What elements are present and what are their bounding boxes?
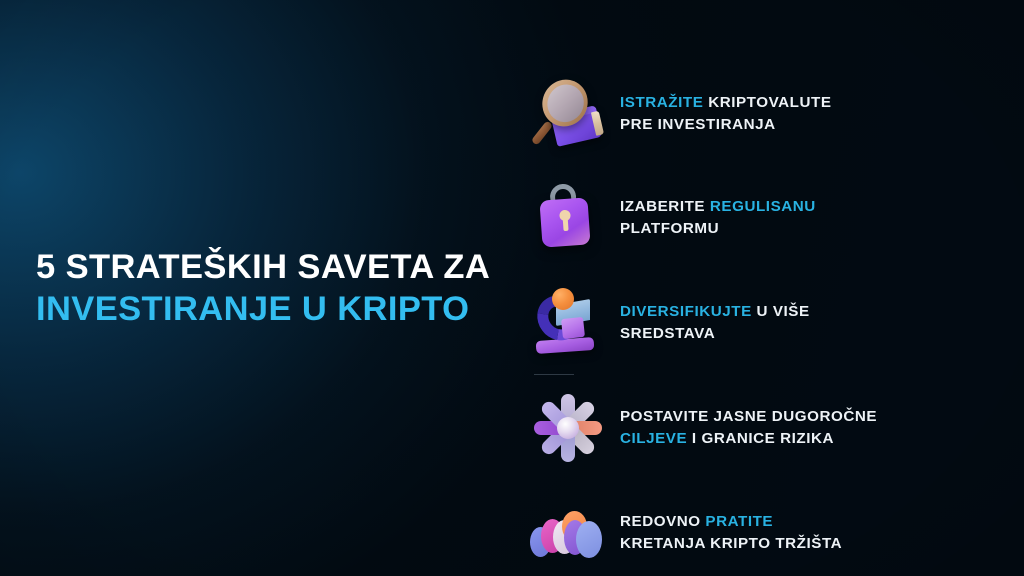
plain-text: U VIŠE [752,303,810,320]
flower-goals-icon [524,384,612,472]
padlock-body-icon [539,197,590,247]
list-item-line-2: SREDSTAVA [620,323,810,346]
accent-text: REGULISANU [710,198,816,215]
list-item-line-2: PRE INVESTIRANJA [620,114,832,137]
magnifier-handle-icon [531,120,553,145]
keyhole-icon [559,210,571,222]
list-item-text: DIVERSIFIKUJTE U VIŠE SREDSTAVA [620,301,810,346]
list-item: IZABERITE REGULISANU PLATFORMU [524,170,944,266]
plain-text: REDOVNO [620,513,705,530]
accent-text: DIVERSIFIKUJTE [620,303,752,320]
slide-canvas: 5 STRATEŠKIH SAVETA ZA INVESTIRANJE U KR… [0,0,1024,576]
cube-icon [561,317,585,339]
plain-text: KRIPTOVALUTE [703,94,831,111]
plain-text: PRE INVESTIRANJA [620,116,776,133]
list-item-line-1: ISTRAŽITE KRIPTOVALUTE [620,92,832,115]
accent-text: CILJEVE [620,430,687,447]
list-item-line-2: KRETANJA KRIPTO TRŽIŠTA [620,533,842,556]
list-item-line-1: DIVERSIFIKUJTE U VIŠE [620,301,810,324]
disc-icon [576,521,602,558]
page-title: 5 STRATEŠKIH SAVETA ZA INVESTIRANJE U KR… [36,246,506,330]
sphere-icon [552,288,574,310]
diversify-shapes-icon [524,279,612,367]
plain-text: IZABERITE [620,198,710,215]
title-line-1: 5 STRATEŠKIH SAVETA ZA [36,246,506,288]
accent-text: ISTRAŽITE [620,94,703,111]
list-item-text: POSTAVITE JASNE DUGOROČNE CILJEVE I GRAN… [620,406,877,451]
title-line-2: INVESTIRANJE U KRIPTO [36,288,506,330]
list-item-line-2: PLATFORMU [620,218,816,241]
plain-text: PLATFORMU [620,220,719,237]
tips-list: ISTRAŽITE KRIPTOVALUTE PRE INVESTIRANJA … [524,56,944,566]
discs-tracking-icon [524,489,612,576]
plain-text: KRETANJA KRIPTO TRŽIŠTA [620,535,842,552]
list-item-text: ISTRAŽITE KRIPTOVALUTE PRE INVESTIRANJA [620,92,832,137]
list-item-line-1: REDOVNO PRATITE [620,511,842,534]
list-item-text: REDOVNO PRATITE KRETANJA KRIPTO TRŽIŠTA [620,511,842,556]
list-item-text: IZABERITE REGULISANU PLATFORMU [620,196,816,241]
padlock-icon [524,174,612,262]
list-item: REDOVNO PRATITE KRETANJA KRIPTO TRŽIŠTA [524,485,944,576]
list-item-line-1: POSTAVITE JASNE DUGOROČNE [620,406,877,429]
plain-text: I GRANICE RIZIKA [687,430,834,447]
divider [534,374,574,375]
accent-text: PRATITE [705,513,773,530]
plain-text: SREDSTAVA [620,325,715,342]
plain-text: POSTAVITE JASNE DUGOROČNE [620,408,877,425]
list-item: POSTAVITE JASNE DUGOROČNE CILJEVE I GRAN… [524,380,944,476]
list-item-line-2: CILJEVE I GRANICE RIZIKA [620,428,877,451]
magnifier-book-icon [524,70,612,158]
list-item: ISTRAŽITE KRIPTOVALUTE PRE INVESTIRANJA [524,66,944,162]
list-item-line-1: IZABERITE REGULISANU [620,196,816,219]
flower-core-icon [557,417,579,439]
list-item: DIVERSIFIKUJTE U VIŠE SREDSTAVA [524,275,944,371]
